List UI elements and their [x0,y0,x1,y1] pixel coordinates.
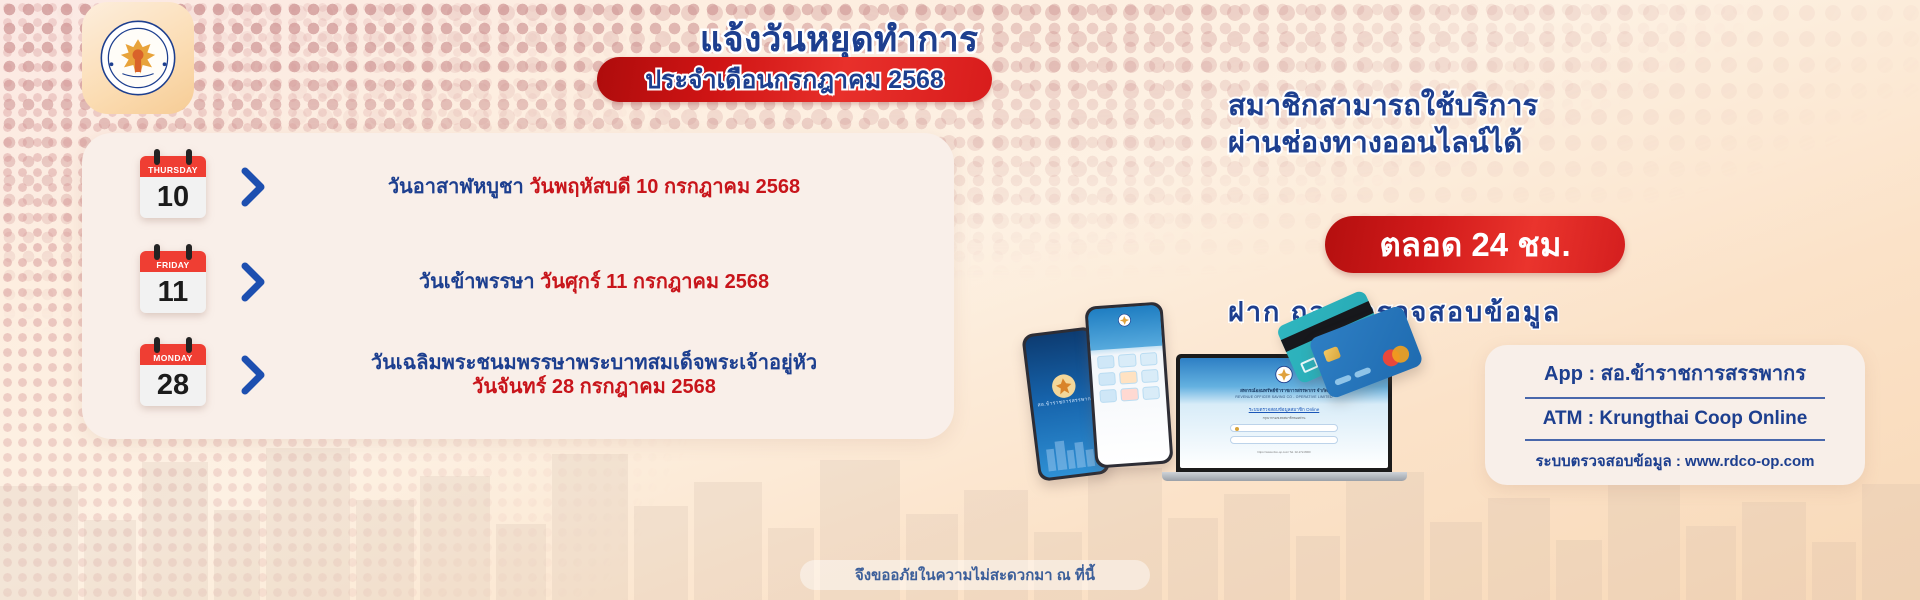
holiday-name: วันอาสาฬหบูชา [388,176,524,198]
holiday-date: วันจันทร์ 28 กรกฎาคม 2568 [276,375,912,399]
holiday-text: วันเข้าพรรษา วันศุกร์ 11 กรกฎาคม 2568 [266,270,954,294]
calendar-day-number: 28 [140,365,206,406]
calendar-ring-right [186,337,192,353]
app-tile [1142,386,1160,400]
calendar-ring-left [154,244,160,260]
calendar-icon: THURSDAY 10 [140,156,206,218]
garuda-seal-icon [99,19,177,97]
holiday-row: MONDAY 28 วันเฉลิมพระชนมพรรษาพระบาทสมเด็… [82,329,954,421]
organization-logo-tile [82,2,194,114]
calendar-weekday: THURSDAY [140,156,206,177]
card-chip [1323,346,1341,363]
online-service-heading-line1: สมาชิกสามารถใช้บริการ [1228,90,1538,122]
atm-channel-label: ATM : Krungthai Coop Online [1543,408,1808,430]
online-service-heading: สมาชิกสามารถใช้บริการ ผ่านช่องทางออนไลน์… [1228,88,1888,162]
holiday-row: THURSDAY 10 วันอาสาฬหบูชา วันพฤหัสบดี 10… [82,141,954,233]
calendar-icon: MONDAY 28 [140,344,206,406]
calendar-day-number: 10 [140,177,206,218]
holiday-text: วันเฉลิมพระชนมพรรษาพระบาทสมเด็จพระเจ้าอย… [266,351,954,400]
holiday-row: FRIDAY 11 วันเข้าพรรษา วันศุกร์ 11 กรกฎา… [82,236,954,328]
credit-cards-group [1278,292,1428,402]
calendar-ring-right [186,244,192,260]
app-tile [1119,370,1137,384]
month-badge-label: ประจำเดือนกรกฎาคม 2568 [645,60,944,100]
app-tile [1098,372,1116,386]
holiday-text: วันอาสาฬหบูชา วันพฤหัสบดี 10 กรกฎาคม 256… [266,175,954,199]
phone-app-grid [1097,352,1161,403]
holiday-name: วันเฉลิมพระชนมพรรษาพระบาทสมเด็จพระเจ้าอย… [276,351,912,375]
webpage-input-field[interactable] [1230,436,1338,444]
chevron-right-icon [240,167,266,207]
phone-seal-icon [1117,313,1132,328]
holiday-date: วันศุกร์ 11 กรกฎาคม 2568 [540,271,769,293]
chevron-right-icon [240,355,266,395]
calendar-ring-right [186,149,192,165]
app-tile [1120,387,1138,401]
app-tile [1141,369,1159,383]
holiday-list-card: THURSDAY 10 วันอาสาฬหบูชา วันพฤหัสบดี 10… [82,133,954,439]
app-tile [1097,355,1115,369]
laptop-base [1162,472,1407,481]
chevron-right-icon [240,262,266,302]
apology-note-text: จึงขออภัยในความไม่สะดวกมา ณ ที่นี้ [855,563,1095,587]
website-channel-label: ระบบตรวจสอบข้อมูล : www.rdco-op.com [1536,449,1815,473]
calendar-weekday: FRIDAY [140,251,206,272]
card-bar [1334,374,1352,386]
webpage-link[interactable]: ระบบตรวจสอบข้อมูลสมาชิก Online [1180,407,1388,414]
webpage-subtext: กรุณากรอกเลขสมาชิกของท่าน [1180,416,1388,421]
divider [1525,397,1825,399]
phone-icon [1084,301,1173,468]
apology-note-pill: จึงขออภัยในความไม่สะดวกมา ณ ที่นี้ [800,560,1150,590]
calendar-icon: FRIDAY 11 [140,251,206,313]
app-tile [1140,352,1158,366]
calendar-ring-left [154,337,160,353]
24h-badge: ตลอด 24 ชม. [1325,216,1625,273]
field-icon [1235,427,1239,431]
phone-app-logo-icon [1049,371,1078,400]
divider [1525,439,1825,441]
card-bar [1354,367,1372,379]
device-illustration-cluster: สอ.ข้าราชการสรรพากร [1010,292,1440,492]
webpage-input-field[interactable] [1230,424,1338,432]
app-tile [1099,389,1117,403]
channel-info-box: App : สอ.ข้าราชการสรรพากร ATM : Krungtha… [1485,345,1865,485]
calendar-day-number: 11 [140,272,206,313]
app-tile [1118,353,1136,367]
calendar-ring-left [154,149,160,165]
webpage-footer: https://www.rdco-op.com/ Tel. 02-272-800… [1180,450,1388,454]
app-channel-label: App : สอ.ข้าราชการสรรพากร [1544,357,1806,389]
phone-skyline-icon [1043,432,1098,472]
holiday-announcement-banner: แจ้งวันหยุดทำการ แจ้งวันหยุดทำการ ประจำเ… [0,0,1920,600]
holiday-date: วันพฤหัสบดี 10 กรกฎาคม 2568 [529,176,800,198]
calendar-weekday: MONDAY [140,344,206,365]
holiday-name: วันเข้าพรรษา [419,271,535,293]
online-service-heading-line2: ผ่านช่องทางออนไลน์ได้ [1228,125,1888,162]
24h-badge-label: ตลอด 24 ชม. [1379,218,1570,271]
month-badge: ประจำเดือนกรกฎาคม 2568 [597,57,992,102]
